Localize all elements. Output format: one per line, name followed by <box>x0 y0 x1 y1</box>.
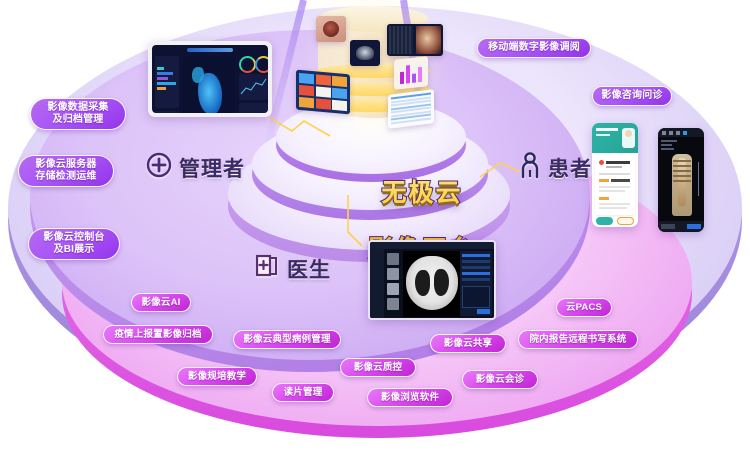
tag-doctor_tags-7[interactable]: 影像浏览软件 <box>367 388 453 407</box>
pacs-viewer-screen[interactable] <box>368 240 496 320</box>
image-viewer-phone[interactable] <box>658 128 704 232</box>
tag-doctor_tags-0[interactable]: 影像云AI <box>131 293 191 312</box>
bi-dashboard-tablet[interactable] <box>148 41 272 117</box>
patient-app-phone[interactable] <box>592 123 638 227</box>
tag-doctor_tags-4[interactable]: 读片管理 <box>272 383 334 402</box>
ultrasound-thumb <box>350 40 380 66</box>
person-icon <box>519 152 541 184</box>
tag-doctor_tags-1[interactable]: 疫情上报置影像归档 <box>103 325 213 344</box>
app-tile-grid-thumb <box>296 70 350 115</box>
infographic-canvas: 无极云影像平台 无极云 影像平台 无极云 影像平台 <box>0 0 750 450</box>
medical-record-plus-icon <box>254 253 280 284</box>
spreadsheet-thumb <box>388 89 434 129</box>
xray-panel-thumb <box>387 24 443 56</box>
endoscopy-thumb <box>316 16 346 42</box>
tag-doctor_tags-3[interactable]: 影像规培教学 <box>177 367 257 386</box>
role-admin[interactable]: 管理者 <box>146 152 245 183</box>
role-patient[interactable]: 患者 <box>519 152 592 184</box>
bar-chart-thumb <box>394 56 428 90</box>
tag-doctor_tags-5[interactable]: 影像云共享 <box>430 334 506 353</box>
tag-admin_tags-0[interactable]: 影像数据采集 及归档管理 <box>30 98 126 130</box>
tag-doctor_tags-8[interactable]: 影像云会诊 <box>462 370 538 389</box>
role-doctor[interactable]: 医生 <box>254 253 331 284</box>
tag-doctor_tags-10[interactable]: 院内报告远程书写系统 <box>518 330 638 349</box>
title-line-1: 无极云 <box>381 179 462 207</box>
tag-doctor_tags-9[interactable]: 云PACS <box>556 298 612 317</box>
tag-admin_tags-2[interactable]: 影像云控制台 及BI展示 <box>28 228 120 260</box>
tag-patient_tags-1[interactable]: 影像咨询问诊 <box>592 86 672 106</box>
role-patient-label: 患者 <box>548 153 592 183</box>
role-admin-label: 管理者 <box>179 153 245 183</box>
circle-plus-icon <box>146 152 172 183</box>
role-doctor-label: 医生 <box>287 254 331 284</box>
tag-doctor_tags-6[interactable]: 影像云质控 <box>340 358 416 377</box>
tag-admin_tags-1[interactable]: 影像云服务器 存储检测运维 <box>18 155 114 187</box>
tag-patient_tags-0[interactable]: 移动端数字影像调阅 <box>477 38 591 58</box>
tag-doctor_tags-2[interactable]: 影像云典型病例管理 <box>233 330 341 349</box>
